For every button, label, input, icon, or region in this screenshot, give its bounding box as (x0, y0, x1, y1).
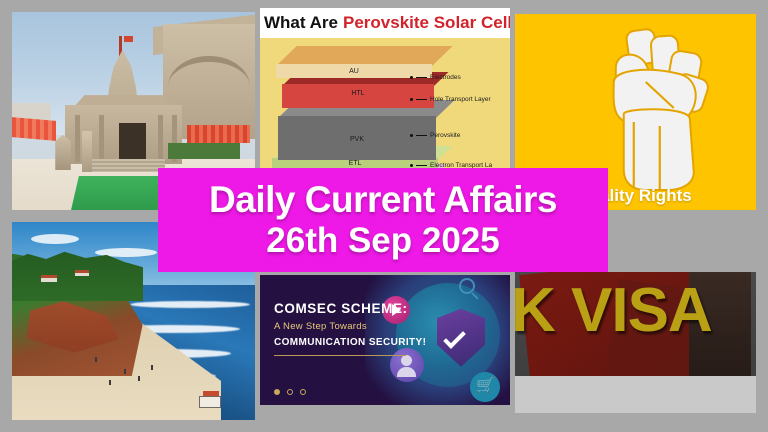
beach-person (138, 376, 140, 381)
cliff-building (41, 275, 57, 282)
temple-column (158, 115, 163, 163)
callout-electrodes: Electrodes (410, 74, 461, 81)
layer-label-pvk: PVK (278, 136, 436, 143)
k-visa-title: K VISA (515, 280, 756, 342)
pagination-dot[interactable] (287, 389, 293, 395)
temple-steps (92, 159, 165, 173)
callout-line (416, 99, 427, 100)
temple-column (75, 115, 80, 163)
pagination-dot-active[interactable] (274, 389, 280, 395)
comsec-subheading: A New Step Towards (274, 321, 367, 332)
banner-title-line-2: 26th Sep 2025 (266, 223, 499, 260)
pagination-dot[interactable] (300, 389, 306, 395)
user-avatar-icon (390, 348, 424, 382)
search-icon (459, 278, 475, 294)
beach-cart (199, 396, 221, 408)
slab-top-face (276, 46, 453, 66)
diagram-title: What Are Perovskite Solar Cells (260, 8, 510, 38)
beach-person (151, 365, 153, 370)
stone-pillar (82, 131, 92, 173)
diagram-title-part2: Perovskite Solar Cells (343, 13, 510, 33)
orange-canopy-left (12, 117, 56, 141)
raised-fist-icon (593, 22, 725, 199)
cliff-building (75, 270, 89, 276)
callout-hole-transport-layer: Hole Transport Layer (410, 96, 491, 103)
orange-canopy-right (187, 125, 250, 143)
daily-current-affairs-banner: Daily Current Affairs 26th Sep 2025 (158, 168, 608, 272)
banner-title-line-1: Daily Current Affairs (209, 181, 557, 220)
temple-flag (124, 36, 133, 42)
comsec-scheme-slide[interactable]: COMSEC SCHEME: A New Step Towards COMMUN… (260, 275, 510, 405)
comsec-subheading-2: COMMUNICATION SECURITY! (274, 337, 426, 348)
callout-line (416, 77, 427, 78)
light-footer-strip (515, 376, 756, 413)
layer-label-au: AU (276, 68, 432, 75)
callout-label: Electrodes (430, 74, 461, 81)
cloud (31, 234, 79, 244)
beach-person (124, 369, 126, 374)
diagram-title-part1: What Are (264, 13, 338, 33)
pagination-dots[interactable] (274, 389, 306, 395)
collage-canvas: What Are Perovskite Solar Cells ETL PVK (0, 0, 768, 432)
divider (274, 355, 406, 356)
callout-dot-icon (410, 76, 413, 79)
comsec-heading: COMSEC SCHEME: (274, 301, 408, 316)
callout-dot-icon (410, 98, 413, 101)
callout-label: Hole Transport Layer (430, 96, 491, 103)
beach-person (109, 380, 111, 385)
layer-label-etl: ETL (272, 160, 438, 167)
k-visa-thumbnail[interactable]: K VISA (515, 272, 756, 413)
layer-label-htl: HTL (282, 90, 434, 97)
beach-person (95, 357, 97, 362)
temple-column (99, 115, 104, 163)
hedge-row (168, 143, 241, 159)
